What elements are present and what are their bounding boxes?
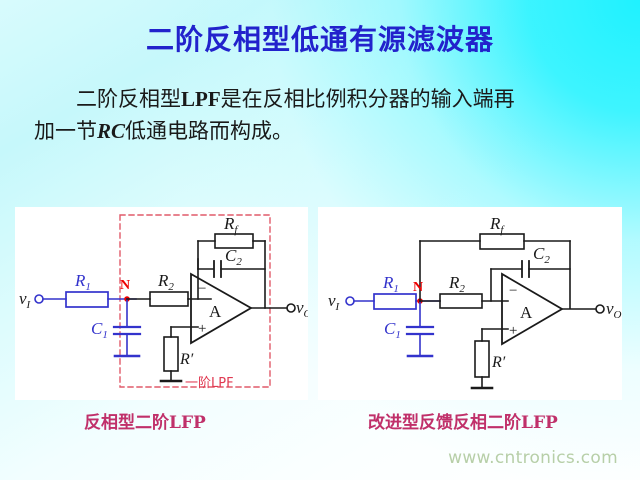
figure-caption-right: 改进型反馈反相二阶LFP — [368, 408, 558, 433]
output-terminal-left — [287, 304, 295, 312]
resistor-rprime-body — [164, 337, 178, 371]
resistor-r2-body — [150, 292, 188, 306]
circuit-diagram-right: − + A R1 C1 R2 Rf C2 R′ N vI vO — [318, 207, 622, 400]
paragraph-line1-part-c: 是在反相比例积分器的输入端再 — [221, 87, 515, 111]
paragraph-line2-rc: RC — [97, 119, 125, 143]
label-c1-right: C1 — [384, 319, 401, 341]
page-title: 二阶反相型低通有源滤波器 — [0, 18, 640, 58]
resistor-r2-body-right — [440, 294, 482, 308]
input-terminal-right — [346, 297, 354, 305]
label-r1-right: R1 — [382, 273, 399, 295]
paragraph-line1-lpf: LPF — [181, 87, 221, 111]
paragraph-line2-part-c: 低通电路而构成。 — [125, 119, 293, 143]
label-rprime-right: R′ — [491, 354, 506, 371]
resistor-r1-body-right — [374, 294, 416, 309]
opamp-label-a-right: A — [520, 303, 533, 322]
resistor-rf-body-right — [480, 234, 524, 249]
opamp-label-a: A — [209, 302, 222, 321]
label-r1: R1 — [74, 271, 91, 293]
paragraph-line1-part-a: 二阶反相型 — [76, 87, 181, 111]
label-node-n-right: N — [413, 280, 423, 295]
resistor-r1-body — [66, 292, 108, 307]
label-c2-right: C2 — [533, 244, 550, 266]
label-rf: Rf — [223, 214, 239, 236]
paragraph-line2-part-a: 加一节 — [34, 119, 97, 143]
input-terminal-left — [35, 295, 43, 303]
opamp-noninverting-sign: + — [198, 321, 206, 337]
label-vin: vI — [19, 289, 32, 311]
figure-panel-improved-feedback-lpf: − + A R1 C1 R2 Rf C2 R′ N vI vO — [318, 207, 622, 400]
opamp-inverting-sign-right: − — [509, 283, 517, 299]
label-r2: R2 — [157, 271, 174, 293]
label-vout-right: vO — [606, 299, 622, 321]
annotation-first-order-lpf: 一阶LPF — [185, 376, 234, 391]
circuit-diagram-left: − + A R1 C1 R2 Rf C2 R′ N vI vO 一阶LPF — [15, 207, 308, 400]
label-c1: C1 — [91, 319, 108, 341]
body-paragraph: 二阶反相型LPF是在反相比例积分器的输入端再 加一节RC低通电路而构成。 — [34, 84, 614, 148]
figure-caption-left: 反相型二阶LFP — [84, 408, 206, 433]
label-rf-right: Rf — [489, 214, 505, 236]
dashed-region-box — [120, 215, 270, 387]
label-c2: C2 — [225, 246, 242, 268]
label-r2-right: R2 — [448, 273, 465, 295]
slide-canvas: 二阶反相型低通有源滤波器 二阶反相型LPF是在反相比例积分器的输入端再 加一节R… — [0, 0, 640, 480]
label-node-n: N — [120, 278, 130, 293]
output-terminal-right — [596, 305, 604, 313]
figure-panel-inverting-2nd-order-lpf: − + A R1 C1 R2 Rf C2 R′ N vI vO 一阶LPF — [15, 207, 308, 400]
label-rprime: R′ — [179, 351, 194, 368]
label-vout: vO — [296, 298, 308, 320]
resistor-rprime-body-right — [475, 341, 489, 377]
opamp-inverting-sign: − — [198, 281, 206, 297]
watermark-text: www.cntronics.com — [448, 448, 618, 468]
label-vin-right: vI — [328, 291, 341, 313]
opamp-noninverting-sign-right: + — [509, 323, 517, 339]
